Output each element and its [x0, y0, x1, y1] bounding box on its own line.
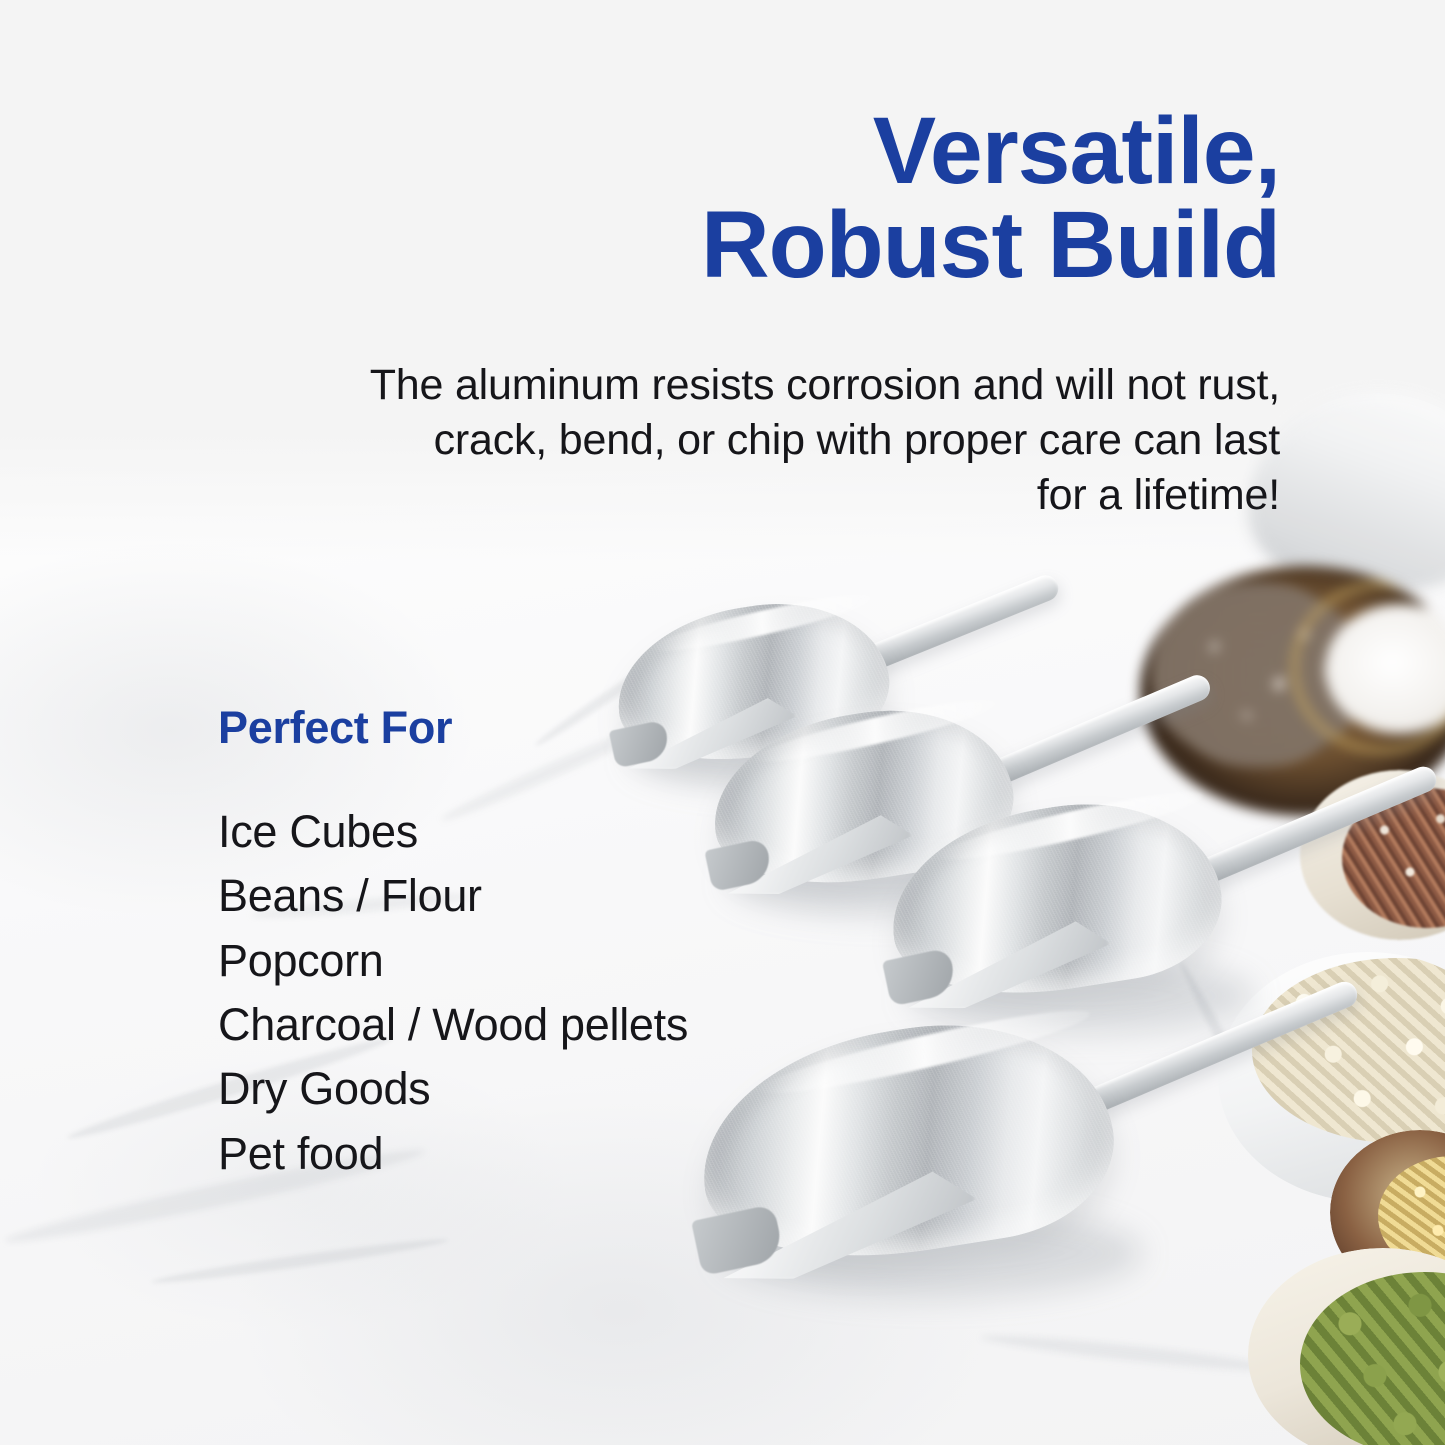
product-description: The aluminum resists corrosion and will …	[225, 358, 1280, 523]
headline-line-1: Versatile,	[380, 104, 1280, 198]
list-item: Ice Cubes	[218, 800, 688, 864]
product-feature-image: Versatile, Robust Build The aluminum res…	[0, 0, 1445, 1445]
description-line-2: crack, bend, or chip with proper care ca…	[225, 413, 1280, 468]
perfect-for-heading: Perfect For	[218, 702, 452, 754]
list-item: Popcorn	[218, 929, 688, 993]
headline-line-2: Robust Build	[380, 198, 1280, 292]
list-item: Pet food	[218, 1122, 688, 1186]
aluminum-scoop-4	[688, 990, 1368, 1310]
scoop-handle	[1189, 763, 1440, 889]
perfect-for-list: Ice Cubes Beans / Flour Popcorn Charcoal…	[218, 800, 688, 1186]
description-line-3: for a lifetime!	[225, 468, 1280, 523]
list-item: Charcoal / Wood pellets	[218, 993, 688, 1057]
list-item: Dry Goods	[218, 1057, 688, 1121]
scoop-handle	[1075, 978, 1361, 1119]
page-title: Versatile, Robust Build	[380, 104, 1280, 292]
list-item: Beans / Flour	[218, 864, 688, 928]
description-line-1: The aluminum resists corrosion and will …	[225, 358, 1280, 413]
